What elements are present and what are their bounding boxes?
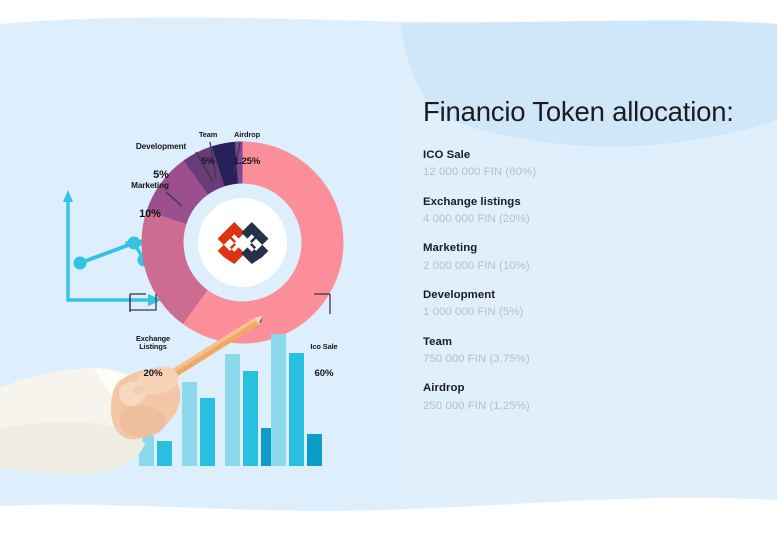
bar-g3-light [225, 354, 240, 466]
pie-label-ico-sale-pct: 60% [292, 369, 356, 380]
pie-label-marketing: Marketing 10% [119, 163, 181, 238]
bar-g4-light [271, 334, 286, 466]
allocation-item-value: 250 000 FIN (1,25%) [423, 398, 763, 415]
pie-label-airdrop-pct: 1.25% [223, 157, 271, 168]
pie-label-exchange-listings-name: Exchange Listings [116, 335, 190, 352]
allocation-item: Airdrop250 000 FIN (1,25%) [423, 381, 763, 415]
poster-canvas: Development 5% Team 5% Airdrop 1.25% Mar… [0, 0, 777, 541]
allocation-item-name: Exchange listings [423, 195, 763, 210]
allocation-item: Development1 000 000 FIN (5%) [423, 288, 763, 322]
pie-label-airdrop: Airdrop 1.25% [223, 113, 271, 186]
allocation-item: Exchange listings4 000 000 FIN (20%) [423, 195, 763, 229]
allocation-item-name: Development [423, 288, 763, 303]
allocation-item-name: Airdrop [423, 381, 763, 396]
allocation-item-value: 1 000 000 FIN (5%) [423, 304, 763, 321]
allocation-item-value: 2 000 000 FIN (10%) [423, 258, 763, 275]
allocation-item: Team750 000 FIN (3,75%) [423, 335, 763, 369]
allocation-item-value: 4 000 000 FIN (20%) [423, 211, 763, 228]
allocation-item-name: ICO Sale [423, 148, 763, 163]
allocation-item-value: 12 000 000 FIN (60%) [423, 164, 763, 181]
allocation-panel: Financio Token allocation: ICO Sale12 00… [423, 0, 777, 541]
pie-label-team-pct: 5% [188, 157, 228, 168]
bar-g4-dark [307, 434, 322, 466]
allocation-item-name: Marketing [423, 241, 763, 256]
financio-logo-icon [215, 215, 271, 271]
infographic-illustration: Development 5% Team 5% Airdrop 1.25% Mar… [0, 0, 410, 541]
bar-g2-mid [200, 398, 215, 466]
pie-label-airdrop-name: Airdrop [223, 131, 271, 139]
pie-label-development-name: Development [125, 142, 197, 151]
pie-label-marketing-name: Marketing [119, 181, 181, 190]
bar-g1-mid [157, 441, 172, 466]
allocation-item: Marketing2 000 000 FIN (10%) [423, 241, 763, 275]
allocation-item-value: 750 000 FIN (3,75%) [423, 351, 763, 368]
pie-label-team: Team 5% [188, 113, 228, 186]
logo-badge [198, 198, 287, 287]
pie-label-exchange-listings-pct: 20% [116, 369, 190, 380]
pie-label-ico-sale-name: Ico Sale [292, 343, 356, 351]
page-title: Financio Token allocation: [423, 96, 734, 128]
bar-g3-mid [243, 371, 258, 466]
pie-label-team-name: Team [188, 131, 228, 139]
pie-label-marketing-pct: 10% [119, 208, 181, 220]
donut-chart [0, 0, 410, 541]
allocation-item-name: Team [423, 335, 763, 350]
allocation-item: ICO Sale12 000 000 FIN (60%) [423, 148, 763, 182]
allocation-list: ICO Sale12 000 000 FIN (60%)Exchange lis… [423, 148, 763, 428]
pie-label-exchange-listings: Exchange Listings 20% [116, 317, 190, 398]
pie-label-ico-sale: Ico Sale 60% [292, 325, 356, 398]
